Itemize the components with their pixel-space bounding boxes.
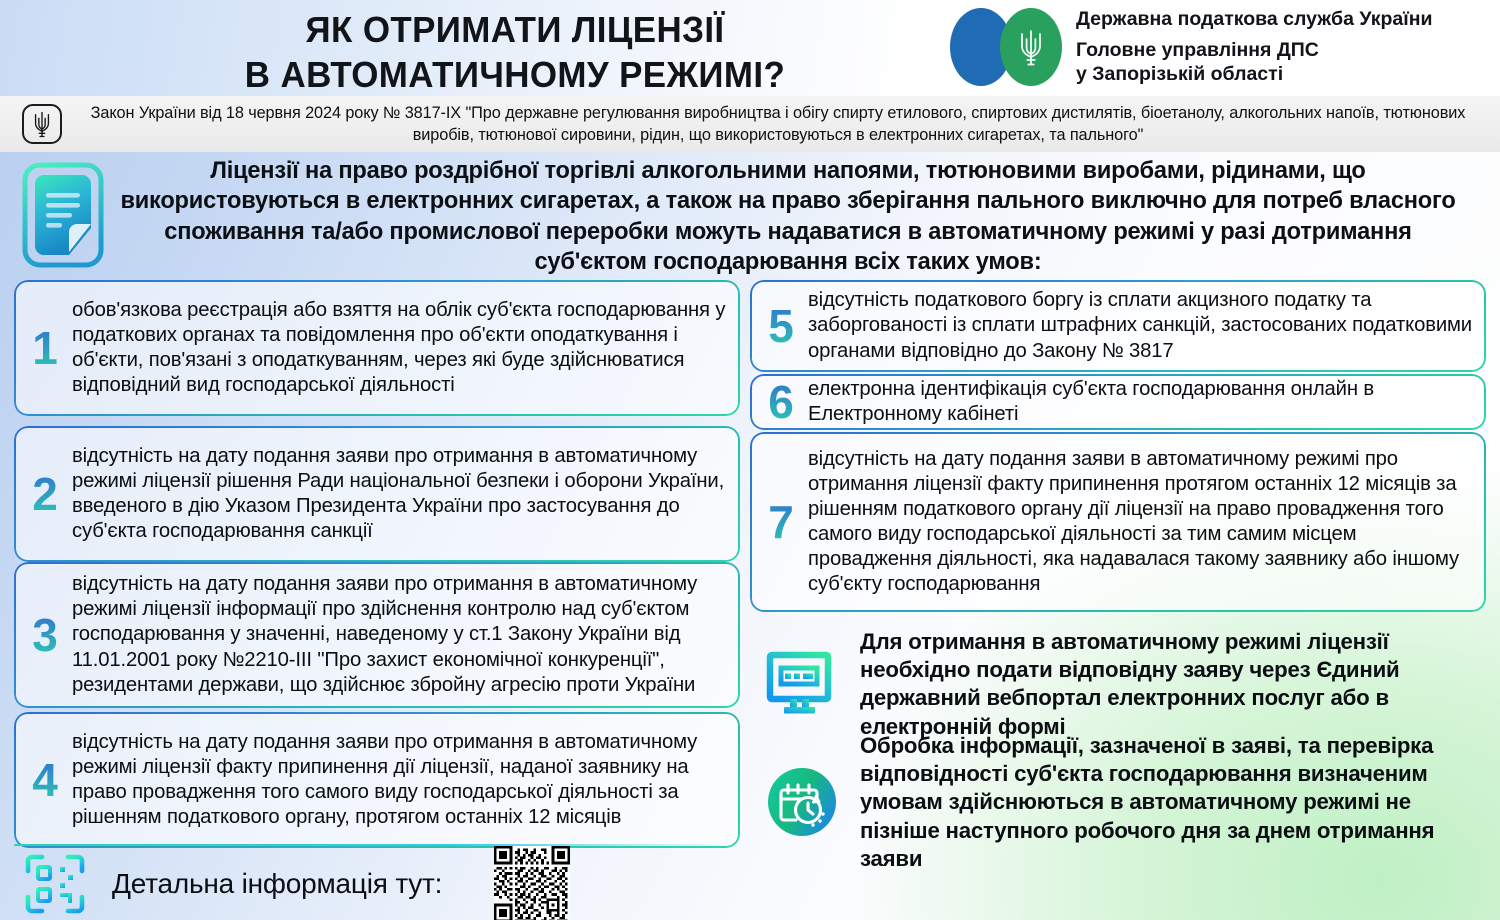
footer-qr-block: Детальна інформація тут:: [24, 846, 570, 920]
logo-text-line-3: у Запорізькій області: [1076, 63, 1433, 86]
condition-number: 4: [22, 757, 68, 803]
condition-number: 3: [22, 612, 68, 658]
trident-glyph-icon: [31, 109, 53, 139]
logo-text-line-2: Головне управління ДПС: [1076, 39, 1433, 62]
condition-card: 3 відсутність на дату подання заяви про …: [14, 562, 740, 708]
footer-qr-label: Детальна інформація тут:: [112, 868, 442, 900]
condition-card: 2 відсутність на дату подання заяви про …: [14, 426, 740, 562]
condition-card: 1 обов'язкова реєстрація або взяття на о…: [14, 280, 740, 416]
page-title-line-2: В АВТОМАТИЧНОМУ РЕЖИМІ?: [117, 53, 912, 98]
condition-card: 7 відсутність на дату подання заяви в ав…: [750, 432, 1486, 612]
trident-emblem-icon: [22, 104, 62, 144]
condition-text: відсутність на дату подання заяви про от…: [68, 572, 728, 697]
qr-scan-icon[interactable]: [24, 853, 86, 915]
calendar-clock-icon: [766, 766, 838, 838]
organization-logo: Державна податкова служба України Головн…: [950, 8, 1433, 86]
condition-number: 2: [22, 471, 68, 517]
condition-text: відсутність податкового боргу із сплати …: [804, 288, 1474, 363]
page-title: ЯК ОТРИМАТИ ЛІЦЕНЗІЇ В АВТОМАТИЧНОМУ РЕЖ…: [117, 8, 912, 97]
condition-card: 4 відсутність на дату подання заяви про …: [14, 712, 740, 848]
condition-text: відсутність на дату подання заяви про от…: [68, 730, 728, 830]
law-reference-banner: Закон України від 18 червня 2024 року № …: [0, 96, 1500, 152]
condition-number: 5: [758, 303, 804, 349]
intro-text: Ліцензії на право роздрібної торгівлі ал…: [104, 156, 1500, 278]
info-note: Для отримання в автоматичному режимі ліц…: [766, 628, 1486, 741]
condition-text: обов'язкова реєстрація або взяття на обл…: [68, 298, 728, 398]
condition-card: 5 відсутність податкового боргу із сплат…: [750, 280, 1486, 372]
intro-section: Ліцензії на право роздрібної торгівлі ал…: [0, 156, 1500, 278]
logo-mark: [950, 8, 1062, 86]
logo-text-line-1: Державна податкова служба України: [1076, 8, 1433, 31]
condition-number: 7: [758, 499, 804, 545]
condition-text: електронна ідентифікація суб'єкта господ…: [804, 377, 1474, 427]
document-icon: [22, 162, 104, 268]
info-note-text: Для отримання в автоматичному режимі ліц…: [860, 628, 1486, 741]
condition-number: 6: [758, 379, 804, 425]
qr-code-icon[interactable]: [494, 846, 570, 920]
info-note: Обробка інформації, зазначеної в заяві, …: [766, 732, 1486, 873]
condition-text: відсутність на дату подання заяви про от…: [68, 444, 728, 544]
monitor-icon: [766, 651, 838, 717]
logo-text: Державна податкова служба України Головн…: [1076, 8, 1433, 86]
condition-number: 1: [22, 325, 68, 371]
condition-text: відсутність на дату подання заяви в авто…: [804, 447, 1474, 597]
trident-icon: [1018, 26, 1044, 68]
page-title-line-1: ЯК ОТРИМАТИ ЛІЦЕНЗІЇ: [306, 9, 725, 50]
header: ЯК ОТРИМАТИ ЛІЦЕНЗІЇ В АВТОМАТИЧНОМУ РЕЖ…: [0, 0, 1500, 96]
condition-card: 6 електронна ідентифікація суб'єкта госп…: [750, 374, 1486, 430]
info-note-text: Обробка інформації, зазначеної в заяві, …: [860, 732, 1486, 873]
law-reference-text: Закон України від 18 червня 2024 року № …: [62, 102, 1500, 147]
infographic-page: ЯК ОТРИМАТИ ЛІЦЕНЗІЇ В АВТОМАТИЧНОМУ РЕЖ…: [0, 0, 1500, 920]
